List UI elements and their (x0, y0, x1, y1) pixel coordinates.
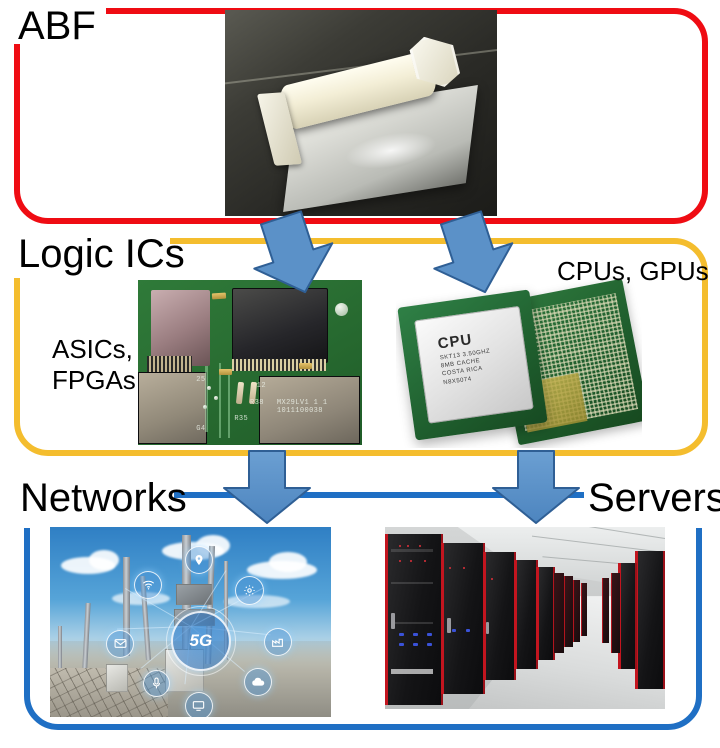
5g-network-photo: 5G (50, 527, 331, 717)
abf-film-roll-photo (225, 10, 497, 216)
monitor-icon (185, 692, 213, 717)
arrow-logic-to-networks (218, 448, 316, 526)
factory-icon (264, 628, 292, 656)
abf-label: ABF (18, 6, 96, 46)
cloud-icon (244, 668, 272, 696)
data-center-photo (385, 527, 665, 709)
logic-ics-label: Logic ICs (18, 234, 185, 274)
5g-badge: 5G (171, 611, 231, 671)
arrow-abf-to-asics (238, 212, 348, 298)
cpu-chip-marking: CPU SKT13 3.50GHZ 8MB CACHE COSTA RICA N… (437, 328, 495, 387)
wifi-icon (134, 571, 162, 599)
diagram-title: ABF to Logic ICs to Networks and Servers… (0, 0, 1, 1)
servers-label: Servers (588, 478, 720, 518)
cpu-package-photo: CPU SKT13 3.50GHZ 8MB CACHE COSTA RICA N… (396, 276, 642, 448)
arrow-abf-to-cpus (418, 212, 528, 298)
location-pin-icon (185, 546, 213, 574)
mail-icon (106, 630, 134, 658)
microphone-icon (143, 670, 170, 697)
asics-fpgas-label: ASICs, FPGAs (52, 334, 136, 395)
pcb-asic-photo: 25 12 R38 R35 G4 MX29LV1 1 11011100038 (138, 280, 362, 445)
arrow-logic-to-servers (487, 448, 585, 526)
networks-label: Networks (20, 478, 187, 518)
diagram-canvas: ABF 25 12 R38 R35 G4 MX29LV1 1 110111000… (0, 0, 720, 748)
cpus-gpus-label: CPUs, GPUs (557, 256, 709, 287)
